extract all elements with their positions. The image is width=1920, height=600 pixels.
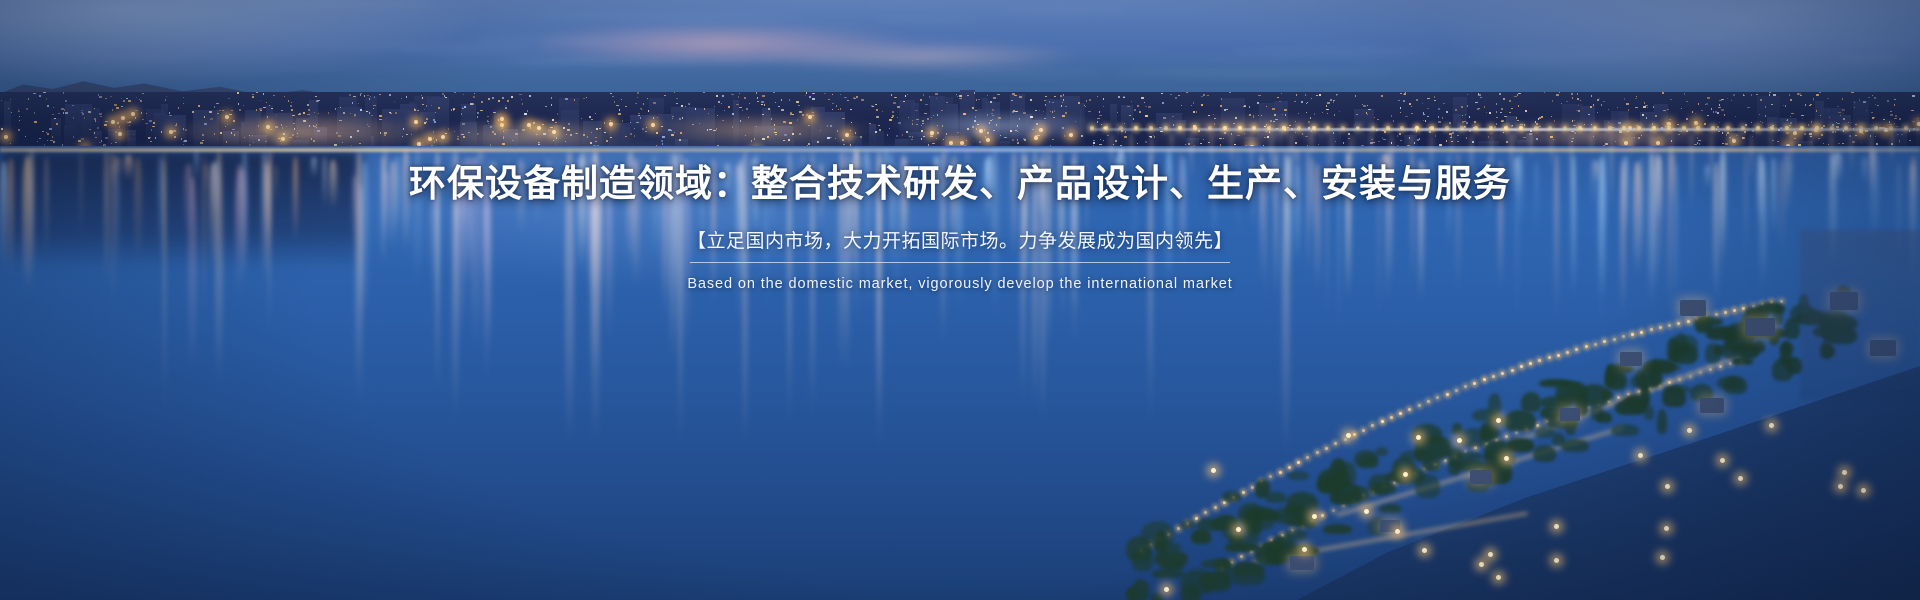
banner-text-block: 环保设备制造领域：整合技术研发、产品设计、生产、安装与服务 【立足国内市场，大力… <box>0 0 1920 600</box>
banner-subtitle: 【立足国内市场，大力开拓国际市场。力争发展成为国内领先】 <box>687 226 1233 253</box>
banner-english-tagline: Based on the domestic market, vigorously… <box>687 276 1232 292</box>
hero-banner: 环保设备制造领域：整合技术研发、产品设计、生产、安装与服务 【立足国内市场，大力… <box>0 0 1920 600</box>
text-divider <box>690 262 1230 263</box>
banner-headline: 环保设备制造领域：整合技术研发、产品设计、生产、安装与服务 <box>409 163 1511 206</box>
